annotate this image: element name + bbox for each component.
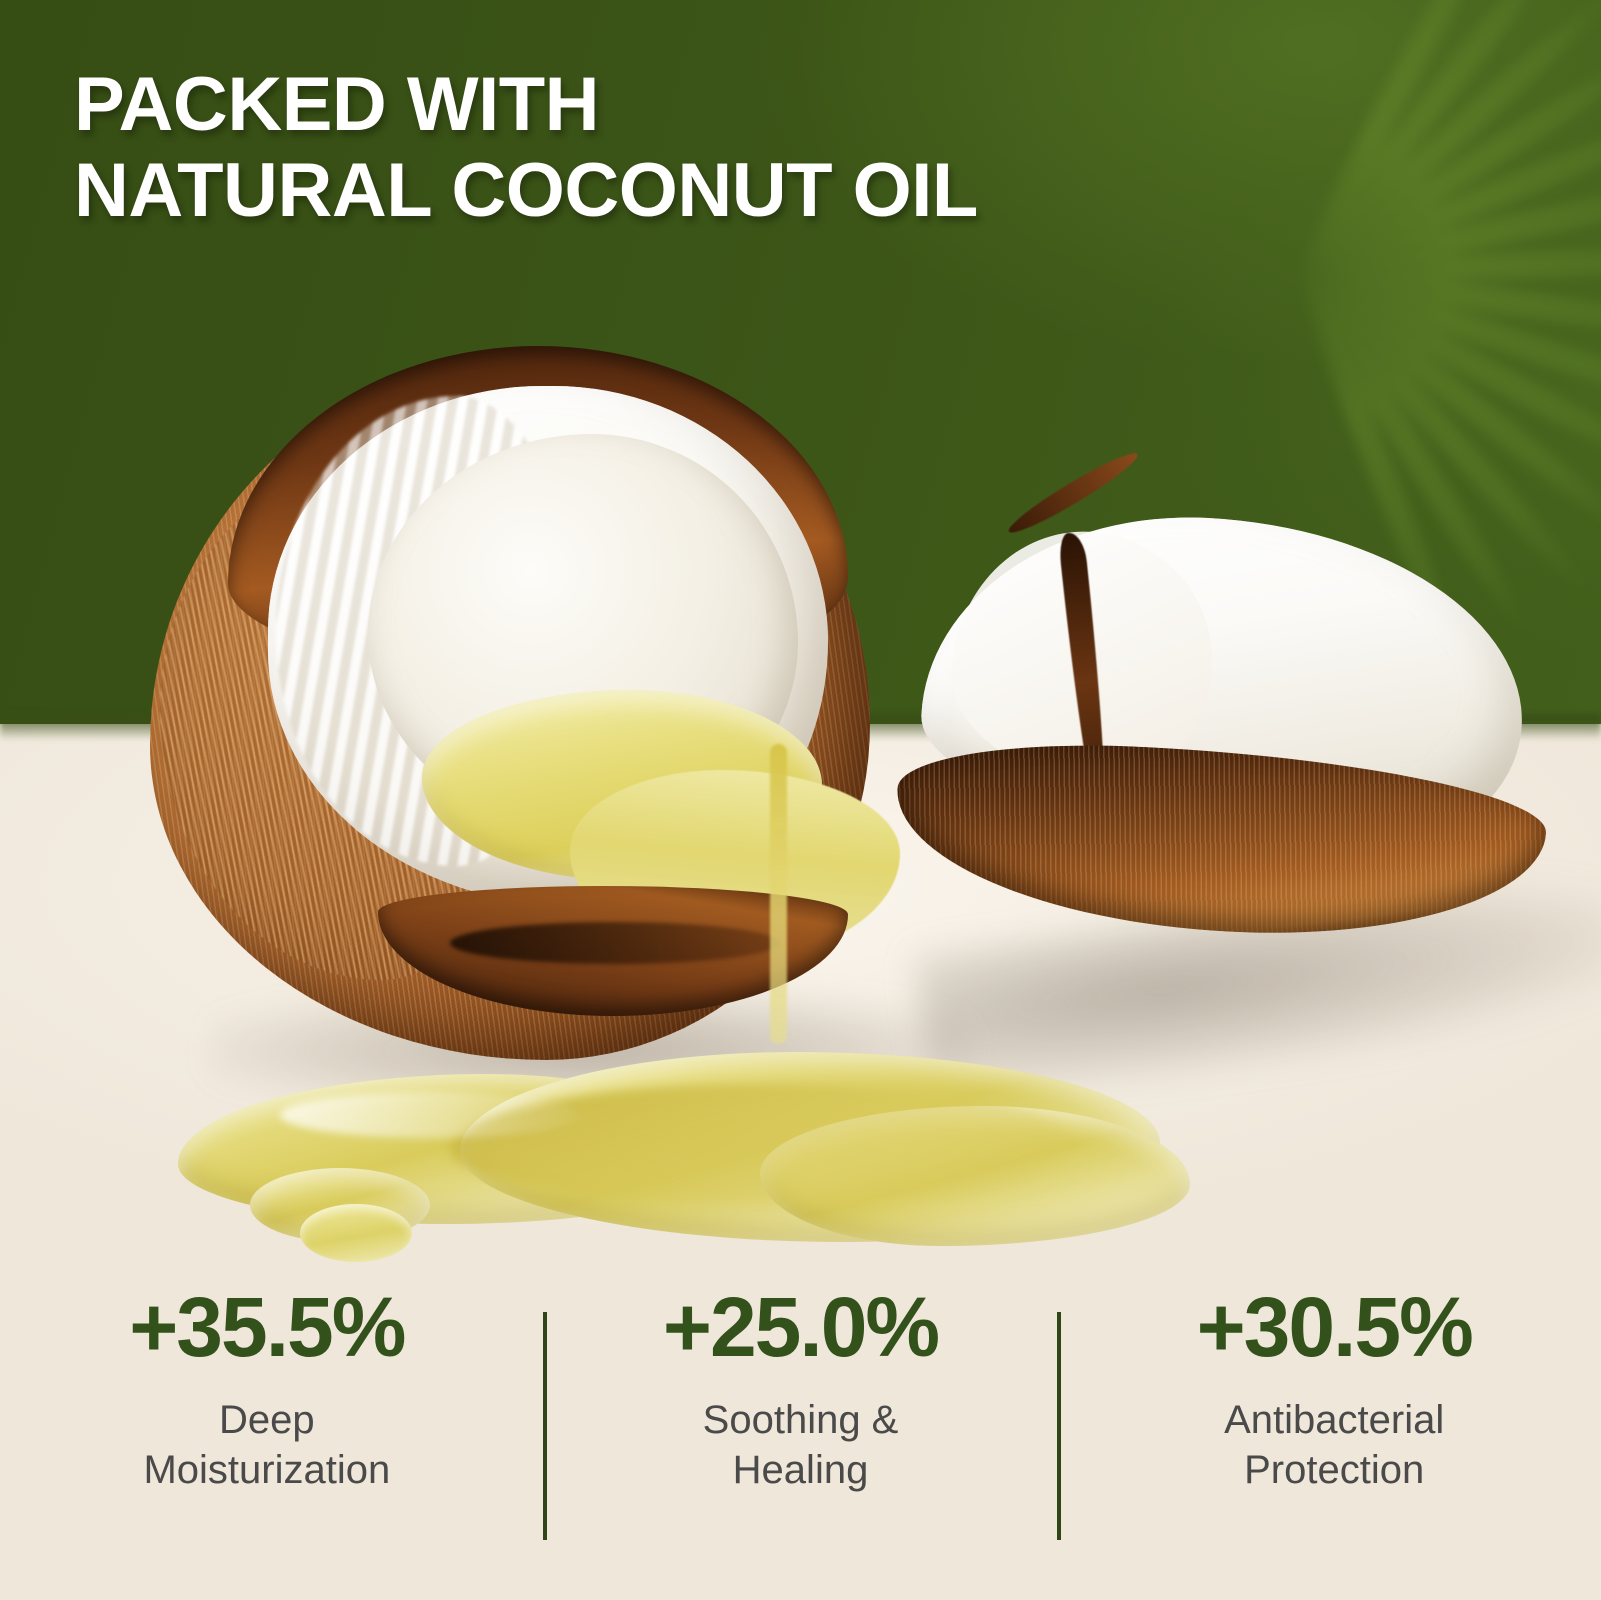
stat-label: Soothing & Healing xyxy=(542,1395,1060,1495)
stat-deep-moisturization: +35.5% Deep Moisturization xyxy=(0,1285,534,1495)
stat-value: +35.5% xyxy=(8,1285,526,1369)
background-band-seam xyxy=(0,714,1601,740)
stat-antibacterial-protection: +30.5% Antibacterial Protection xyxy=(1067,1285,1601,1495)
stat-divider-left xyxy=(543,1312,547,1540)
stat-value: +25.0% xyxy=(542,1285,1060,1369)
product-benefit-poster: PACKED WITH NATURAL COCONUT OIL xyxy=(0,0,1601,1600)
stat-label: Deep Moisturization xyxy=(8,1395,526,1495)
stat-soothing-healing: +25.0% Soothing & Healing xyxy=(534,1285,1068,1495)
benefit-stats-row: +35.5% Deep Moisturization +25.0% Soothi… xyxy=(0,1285,1601,1495)
stat-label: Antibacterial Protection xyxy=(1075,1395,1593,1495)
stat-divider-right xyxy=(1057,1312,1061,1540)
page-title: PACKED WITH NATURAL COCONUT OIL xyxy=(74,62,1254,234)
stat-value: +30.5% xyxy=(1075,1285,1593,1369)
